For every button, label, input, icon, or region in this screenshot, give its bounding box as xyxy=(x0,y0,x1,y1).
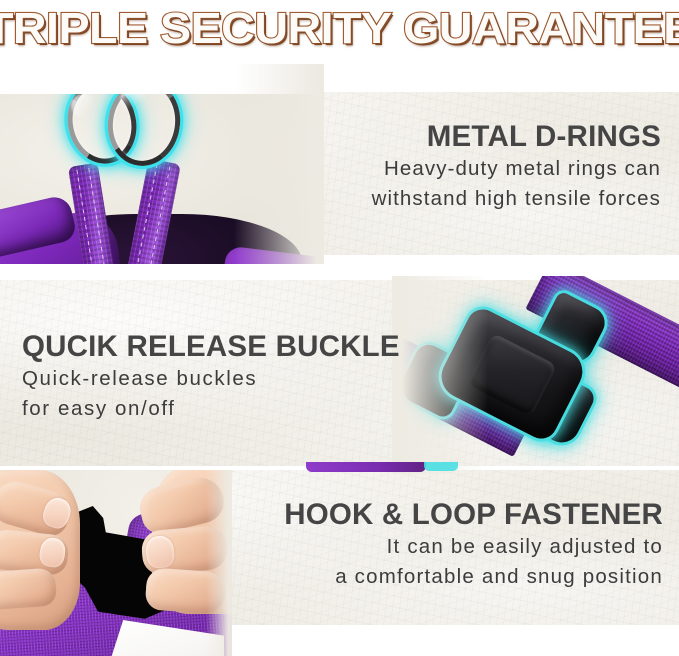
heading-metal-d-rings: METAL D-RINGS xyxy=(141,120,661,154)
left-finger xyxy=(0,567,57,610)
body-line: for easy on/off xyxy=(22,394,542,424)
buckle-glow-sliver xyxy=(424,462,458,471)
heading-hook-loop-fastener: HOOK & LOOP FASTENER xyxy=(123,498,663,532)
infographic-page: TRIPLE SECURITY GUARANTEE METAL D-RINGS … xyxy=(0,0,679,656)
body-line: a comfortable and snug position xyxy=(123,562,663,592)
body-line: Quick-release buckles xyxy=(22,364,542,394)
heading-quick-release-buckle: QUCIK RELEASE BUCKLE xyxy=(22,330,542,364)
body-line: withstand high tensile forces xyxy=(141,184,661,214)
title-banner: TRIPLE SECURITY GUARANTEE xyxy=(0,0,679,58)
webbing-overflow-sliver xyxy=(306,462,426,472)
page-title: TRIPLE SECURITY GUARANTEE xyxy=(0,6,679,52)
text-block-metal-d-rings: METAL D-RINGS Heavy-duty metal rings can… xyxy=(141,120,661,214)
text-block-quick-release-buckle: QUCIK RELEASE BUCKLE Quick-release buckl… xyxy=(22,330,542,424)
body-line: It can be easily adjusted to xyxy=(123,532,663,562)
body-line: Heavy-duty metal rings can xyxy=(141,154,661,184)
text-block-hook-loop-fastener: HOOK & LOOP FASTENER It can be easily ad… xyxy=(123,498,663,592)
